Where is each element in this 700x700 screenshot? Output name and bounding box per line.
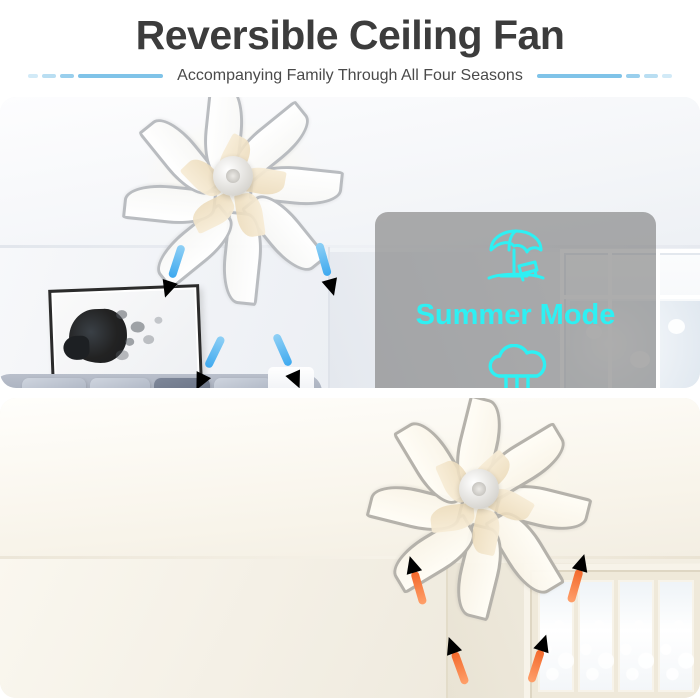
flower-ceiling-fan: [232, 175, 233, 176]
beach-umbrella-icon: [483, 226, 549, 293]
infographic-page: Reversible Ceiling Fan Accompanying Fami…: [0, 0, 700, 700]
rule-dash: [42, 74, 56, 78]
rule-solid: [78, 74, 163, 78]
ceiling-edge: [0, 556, 700, 559]
divider-rule-left: [13, 74, 163, 78]
flower-ceiling-fan: [478, 488, 479, 489]
rule-solid: [537, 74, 622, 78]
page-subtitle: Accompanying Family Through All Four Sea…: [163, 67, 537, 85]
art-speck: [143, 335, 154, 344]
summer-mode-title: Summer Mode: [416, 301, 616, 330]
fan-hub: [459, 469, 499, 509]
sofa-cushion: [90, 378, 150, 388]
subtitle-row: Accompanying Family Through All Four Sea…: [0, 64, 700, 88]
header: Reversible Ceiling Fan Accompanying Fami…: [0, 0, 700, 95]
rule-dash: [662, 74, 672, 78]
art-speck: [130, 321, 144, 333]
window-pane: [618, 580, 654, 692]
cloud-downdraft-icon: [479, 344, 553, 388]
window-pane: [658, 580, 694, 692]
bison-wall-art: [48, 284, 203, 388]
art-speck: [125, 338, 134, 346]
fan-hub: [213, 156, 253, 196]
art-speck: [116, 310, 127, 319]
artwork-canvas: [53, 289, 197, 382]
sofa-cushion: [214, 378, 272, 388]
page-title: Reversible Ceiling Fan: [0, 12, 700, 59]
wall-corner: [446, 558, 448, 698]
rule-dash: [60, 74, 74, 78]
summer-section: Summer Mode Cool down the space quickly: [0, 97, 700, 388]
snow-patch: [668, 319, 685, 334]
warm-room-photo: [0, 398, 700, 698]
left-wall: [0, 558, 450, 698]
sofa-cushion: [22, 378, 86, 388]
window-mullion: [656, 253, 660, 388]
rule-dash: [644, 74, 658, 78]
rule-dash: [28, 74, 38, 78]
winter-section: Winter Mode Accelerate the room warming: [0, 398, 700, 698]
divider-rule-right: [537, 74, 687, 78]
art-speck: [154, 317, 162, 324]
summer-mode-card: Summer Mode Cool down the space quickly: [375, 212, 656, 388]
bison-head: [63, 335, 90, 360]
rule-dash: [626, 74, 640, 78]
window-pane: [578, 580, 614, 692]
art-speck: [116, 350, 129, 360]
